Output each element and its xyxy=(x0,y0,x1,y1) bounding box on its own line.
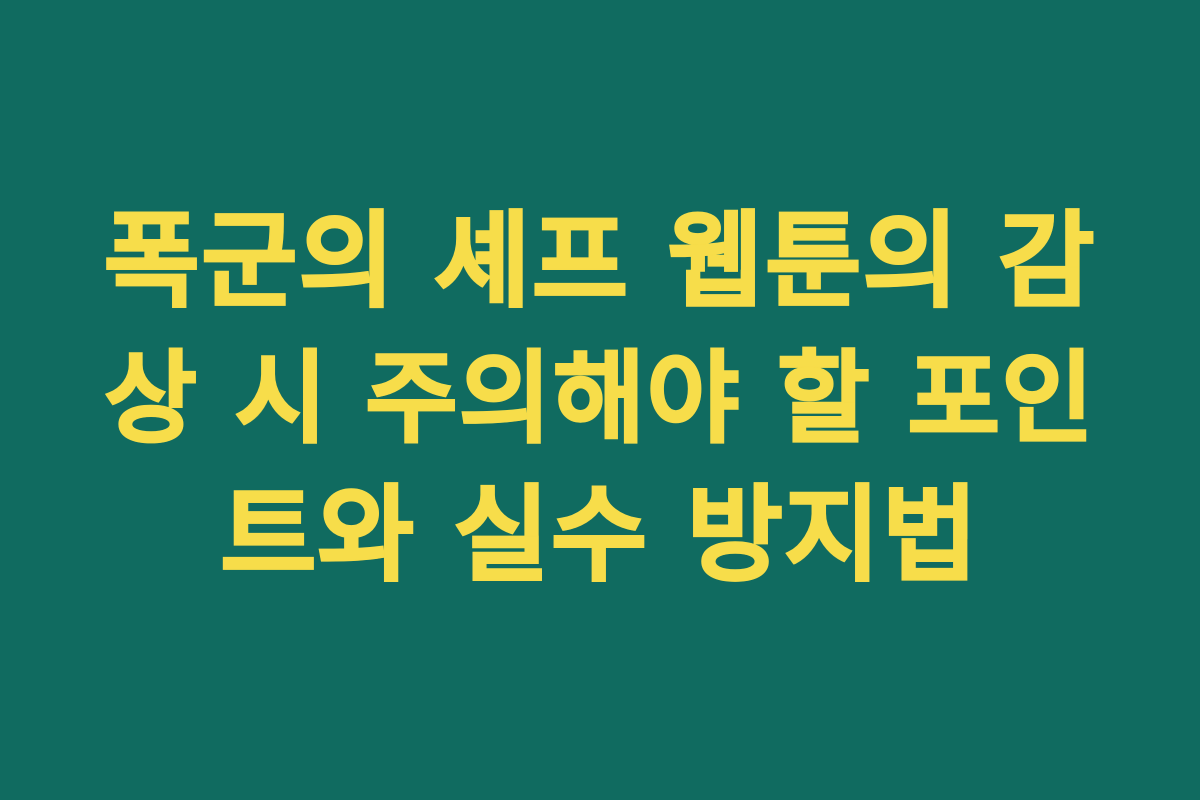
headline-line-1: 폭군의 셰프 웹툰의 감 xyxy=(104,193,1096,330)
headline-line-3: 트와 실수 방지법 xyxy=(220,467,979,604)
headline-block: 폭군의 셰프 웹툰의 감 상 시 주의해야 할 포인 트와 실수 방지법 xyxy=(100,193,1100,604)
headline-line-2: 상 시 주의해야 할 포인 xyxy=(105,330,1096,467)
thumbnail-canvas: 폭군의 셰프 웹툰의 감 상 시 주의해야 할 포인 트와 실수 방지법 xyxy=(0,0,1200,800)
